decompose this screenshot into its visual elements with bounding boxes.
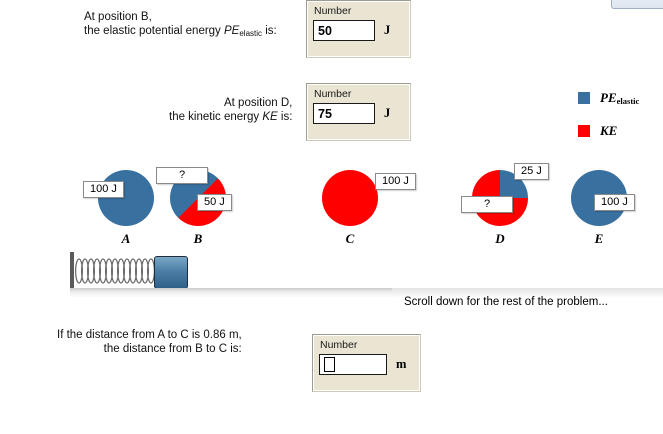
ke-symbol: KE (262, 111, 277, 123)
question-3-line1: If the distance from A to C is 0.86 m, (57, 329, 242, 343)
answer-2-row: 75 J (313, 103, 404, 124)
legend-swatch-pe (578, 92, 590, 104)
answer-1-row: 50 J (313, 20, 404, 41)
pe-symbol: PE (224, 25, 239, 37)
answer-2-unit: J (384, 106, 390, 121)
position-label-e: E (571, 231, 627, 247)
legend-item-ke: KE (578, 123, 639, 139)
answer-3-row: m (319, 354, 414, 375)
pie-c-value-label: 100 J (375, 173, 416, 190)
legend-swatch-ke (578, 125, 590, 137)
pe-subscript: elastic (239, 29, 262, 38)
pie-chart-c (322, 170, 378, 226)
position-label-d: D (472, 231, 528, 247)
question-1-line1: At position B, (84, 11, 277, 25)
answer-3-unit: m (396, 357, 406, 372)
legend-item-pe: PEelastic (578, 90, 639, 106)
pie-chart-a (98, 170, 154, 226)
position-label-a: A (98, 231, 154, 247)
legend-label-pe: PEelastic (600, 90, 639, 106)
answer-3-input[interactable] (319, 354, 387, 375)
question-2-line2: the kinetic energy KE is: (169, 111, 292, 125)
position-label-b: B (170, 231, 226, 247)
question-2-line1: At position D, (169, 97, 292, 111)
top-toolbar-control[interactable] (611, 0, 663, 9)
question-3-line2: the distance from B to C is: (57, 343, 242, 357)
question-2-text: At position D, the kinetic energy KE is: (169, 97, 292, 124)
legend-label-ke: KE (600, 123, 617, 139)
answer-panel-2: Number 75 J (306, 83, 411, 141)
pie-d-value-label: 25 J (514, 163, 549, 180)
question-3-text: If the distance from A to C is 0.86 m, t… (57, 329, 242, 356)
question-1-text: At position B, the elastic potential ene… (84, 11, 277, 40)
pie-b-unknown-label: ? (156, 167, 208, 184)
scroll-hint-text: Scroll down for the rest of the problem.… (404, 296, 608, 308)
spring-icon (74, 258, 158, 284)
answer-2-input[interactable]: 75 (313, 103, 375, 124)
answer-2-label: Number (314, 88, 404, 100)
pie-b-value-label: 50 J (197, 194, 232, 211)
answer-1-label: Number (314, 5, 404, 17)
pie-e-value-label: 100 J (594, 194, 635, 211)
mass-block (154, 256, 188, 289)
answer-3-label: Number (320, 339, 414, 351)
legend: PEelastic KE (578, 90, 639, 139)
question-1-line2: the elastic potential energy PEelastic i… (84, 25, 277, 41)
pie-a-value-label: 100 J (83, 181, 124, 198)
answer-1-unit: J (384, 23, 390, 38)
answer-1-input[interactable]: 50 (313, 20, 375, 41)
pie-d-unknown-label: ? (461, 196, 513, 213)
answer-panel-3: Number m (312, 334, 421, 392)
answer-panel-1: Number 50 J (306, 0, 411, 58)
text-caret (324, 357, 335, 372)
position-label-c: C (322, 231, 378, 247)
